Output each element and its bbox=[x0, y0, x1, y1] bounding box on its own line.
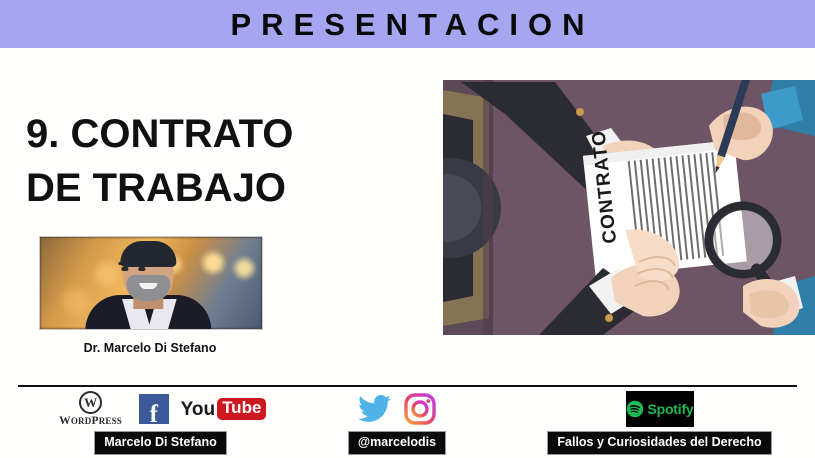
footer-group-podcast: Spotify Fallos y Curiosidades del Derech… bbox=[552, 390, 767, 455]
portrait-hair bbox=[120, 241, 176, 267]
instagram-icon[interactable] bbox=[404, 393, 436, 425]
wordpress-mark: W bbox=[79, 391, 102, 414]
slide-title-line-2: DE TRABAJO bbox=[26, 162, 426, 216]
spotify-wordmark: Spotify bbox=[647, 401, 693, 417]
slide-title-line-1: 9. CONTRATO bbox=[26, 108, 426, 162]
footer-icons-left: W WORDPRESS f You Tube bbox=[55, 390, 267, 428]
header-band: PRESENTACION bbox=[0, 0, 815, 48]
twitter-icon[interactable] bbox=[358, 394, 392, 424]
youtube-you-text: You bbox=[181, 400, 215, 419]
presenter-portrait bbox=[39, 236, 263, 330]
facebook-icon[interactable]: f bbox=[139, 394, 169, 424]
footer-divider bbox=[18, 385, 797, 387]
portrait-eye-right bbox=[138, 267, 145, 271]
contract-illustration-svg: CONTRATO bbox=[443, 80, 815, 335]
page-title: PRESENTACION bbox=[220, 9, 594, 40]
facebook-f-glyph: f bbox=[150, 402, 158, 427]
portrait-eye-left bbox=[121, 267, 128, 271]
footer-label-podcast: Fallos y Curiosidades del Derecho bbox=[547, 431, 771, 455]
footer-group-marcelo: W WORDPRESS f You Tube Marcelo Di Stefan… bbox=[48, 390, 273, 455]
contract-illustration: CONTRATO bbox=[443, 80, 815, 335]
footer-label-marcelo: Marcelo Di Stefano bbox=[94, 431, 227, 455]
youtube-icon[interactable]: You Tube bbox=[181, 398, 267, 420]
spotify-mark bbox=[626, 399, 644, 419]
footer-icons-right: Spotify bbox=[626, 390, 694, 428]
presenter-name-caption: Dr. Marcelo Di Stefano bbox=[39, 341, 261, 355]
youtube-tube-badge: Tube bbox=[217, 398, 266, 420]
footer-label-marcelodis: @marcelodis bbox=[348, 431, 446, 455]
footer-group-marcelodis: @marcelodis bbox=[332, 390, 462, 455]
footer-icons-center bbox=[358, 390, 436, 428]
spotify-icon[interactable]: Spotify bbox=[626, 391, 694, 427]
wordpress-wordmark: WORDPRESS bbox=[59, 415, 122, 427]
slide-title: 9. CONTRATO DE TRABAJO bbox=[26, 108, 426, 215]
portrait-figure bbox=[82, 243, 214, 329]
wordpress-icon[interactable]: W WORDPRESS bbox=[55, 391, 127, 427]
